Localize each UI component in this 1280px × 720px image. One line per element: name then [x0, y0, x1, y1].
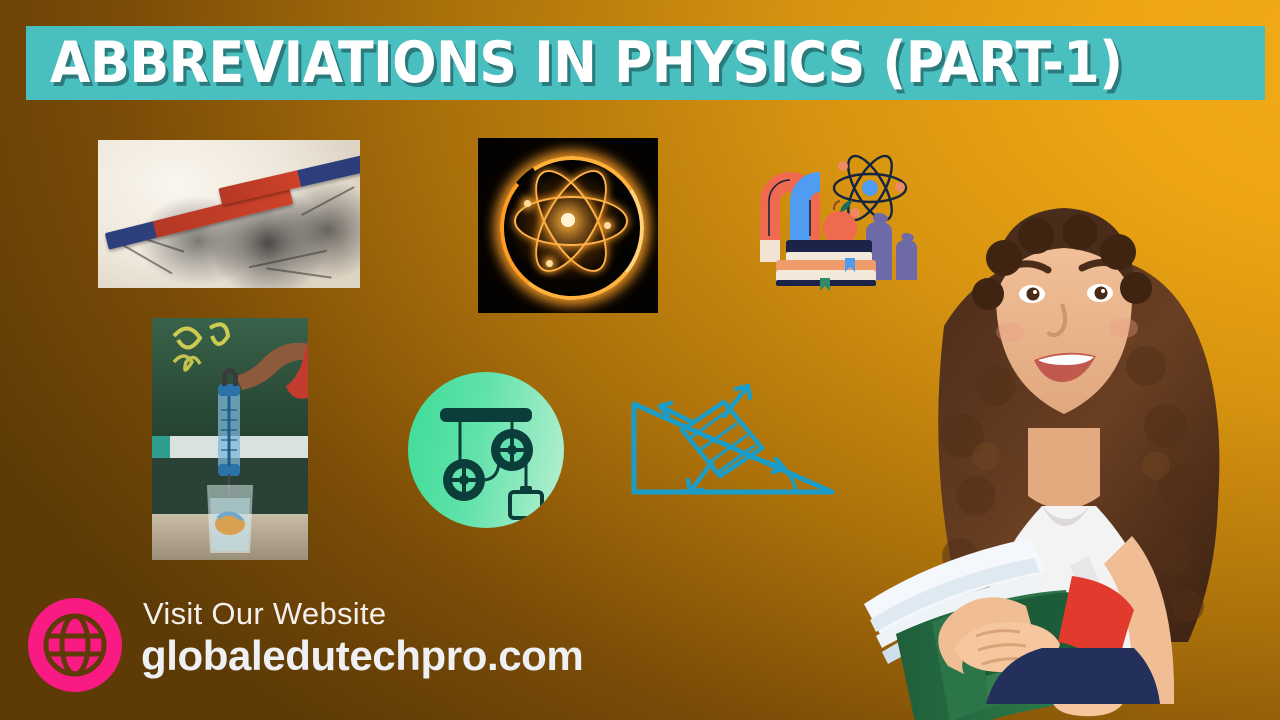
electron-dot [524, 200, 531, 207]
electron-dot [546, 260, 553, 267]
page-title: ABBREVIATIONS IN PHYSICS (PART-1) [50, 35, 1123, 92]
title-banner: ABBREVIATIONS IN PHYSICS (PART-1) [26, 26, 1265, 100]
visit-label: Visit Our Website [143, 596, 386, 632]
electron-dot [604, 222, 611, 229]
presenter-photo [836, 136, 1272, 720]
neck [1028, 428, 1100, 509]
atom-photo [478, 138, 658, 313]
atom-nucleus [561, 213, 575, 227]
website-url[interactable]: globaledutechpro.com [141, 632, 583, 680]
globe-icon[interactable] [28, 598, 122, 692]
magnet-photo [98, 140, 360, 288]
incline-triangle [634, 404, 832, 492]
inclined-plane-diagram [620, 382, 840, 508]
footer: Visit Our Website globaledutechpro.com [28, 594, 648, 698]
globe-badge-background [28, 598, 122, 692]
pulley-beam [440, 408, 532, 422]
thumbnail-canvas: ABBREVIATIONS IN PHYSICS (PART-1) [0, 0, 1280, 720]
bookmark-icon [820, 278, 830, 291]
whiteboard-edge [152, 436, 170, 458]
hanging-weight [510, 492, 542, 518]
pulley-icon [408, 372, 564, 528]
buoyancy-photo [152, 318, 308, 560]
pulley-wheel [443, 459, 485, 501]
